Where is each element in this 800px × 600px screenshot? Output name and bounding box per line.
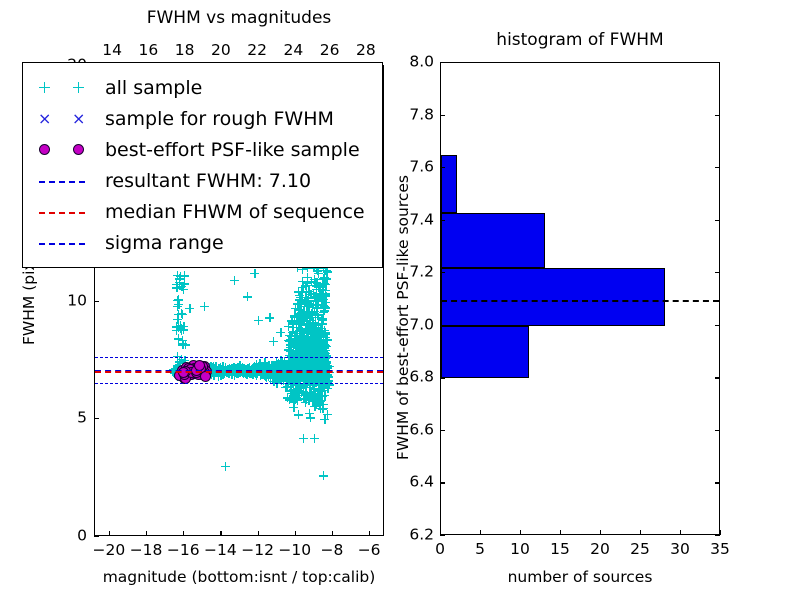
legend-item: sigma range bbox=[33, 227, 370, 258]
hist-y-tick-label: 7.6 bbox=[392, 159, 434, 175]
histogram-bar bbox=[441, 213, 545, 268]
x-tick-bottom bbox=[295, 531, 296, 536]
x-tick-label: −20 bbox=[93, 543, 126, 559]
x-marker-icon: × bbox=[38, 111, 51, 127]
hist-y-tick-right bbox=[715, 62, 720, 63]
legend-item: median FHWM of sequence bbox=[33, 196, 370, 227]
x-tick-bottom bbox=[369, 531, 370, 536]
reference-line-sigma-range-upper bbox=[95, 357, 383, 358]
right-yaxis-label: FWHM of best-effort PSF-like sources bbox=[394, 175, 412, 460]
hist-x-tick bbox=[640, 530, 641, 535]
right-xaxis-label: number of sources bbox=[508, 568, 653, 586]
x-tick-bottom bbox=[146, 531, 147, 536]
x-tick-label: −10 bbox=[278, 543, 311, 559]
blue-dashdot-line-icon bbox=[39, 243, 85, 245]
left-xaxis-label: magnitude (bottom:isnt / top:calib) bbox=[103, 568, 376, 586]
x-marker-icon: × bbox=[72, 111, 85, 127]
blue-dashed-line-icon bbox=[33, 171, 105, 191]
hist-x-tick-label: 5 bbox=[475, 542, 485, 558]
legend-box: all sample××sample for rough FWHMbest-ef… bbox=[22, 62, 383, 268]
hist-x-tick bbox=[600, 530, 601, 535]
x-tick-label: −12 bbox=[241, 543, 274, 559]
hist-y-tick-right bbox=[715, 167, 720, 168]
top-x-tick-label: 16 bbox=[139, 43, 159, 59]
left-yaxis-label: FWHM (pix) bbox=[20, 255, 38, 345]
circle-marker-icon bbox=[39, 144, 50, 155]
right-histogram-axes bbox=[440, 62, 720, 535]
legend-item-label: median FHWM of sequence bbox=[105, 201, 365, 223]
hist-y-tick-label: 6.2 bbox=[392, 527, 434, 543]
hist-y-tick-right bbox=[715, 377, 720, 378]
legend-item: best-effort PSF-like sample bbox=[33, 134, 370, 165]
y-tick-left bbox=[94, 301, 99, 302]
hist-y-tick bbox=[440, 325, 445, 326]
red-dashed-line-icon bbox=[33, 202, 105, 222]
top-x-tick-label: 26 bbox=[320, 43, 340, 59]
y-tick-left bbox=[94, 418, 99, 419]
x-tick-label: −18 bbox=[130, 543, 163, 559]
plus-marker-icon bbox=[39, 82, 50, 93]
hist-x-tick-label: 35 bbox=[710, 542, 730, 558]
hist-y-tick-right bbox=[715, 535, 720, 536]
legend-item: resultant FWHM: 7.10 bbox=[33, 165, 370, 196]
hist-y-tick-label: 7.8 bbox=[392, 107, 434, 123]
y-tick-label: 5 bbox=[54, 411, 87, 427]
top-x-tick-label: 24 bbox=[284, 43, 304, 59]
top-x-tick-label: 28 bbox=[356, 43, 376, 59]
x-tick-bottom bbox=[220, 531, 221, 536]
hist-y-tick bbox=[440, 482, 445, 483]
y-tick-label: 10 bbox=[54, 293, 87, 309]
blue-dashdot-line-icon bbox=[33, 233, 105, 253]
circle-marker-icon bbox=[33, 140, 105, 160]
plus-marker-icon bbox=[33, 78, 105, 98]
hist-y-tick bbox=[440, 535, 445, 536]
hist-y-tick bbox=[440, 115, 445, 116]
legend-item: ××sample for rough FWHM bbox=[33, 103, 370, 134]
hist-y-tick-label: 6.4 bbox=[392, 475, 434, 491]
red-dashed-line-icon bbox=[39, 212, 85, 214]
histogram-bar bbox=[441, 326, 529, 379]
hist-x-tick bbox=[680, 530, 681, 535]
hist-y-tick bbox=[440, 430, 445, 431]
histogram-bars-layer bbox=[441, 63, 719, 534]
hist-x-tick-label: 20 bbox=[590, 542, 610, 558]
x-tick-label: −8 bbox=[321, 543, 344, 559]
hist-y-tick bbox=[440, 272, 445, 273]
hist-x-tick-label: 10 bbox=[510, 542, 530, 558]
hist-x-tick-label: 0 bbox=[435, 542, 445, 558]
y-tick-label: 0 bbox=[54, 528, 87, 544]
top-x-tick-label: 22 bbox=[247, 43, 267, 59]
x-tick-label: −16 bbox=[167, 543, 200, 559]
plus-marker-icon bbox=[73, 82, 84, 93]
reference-line-sigma-range-lower bbox=[95, 383, 383, 384]
circle-marker-icon bbox=[73, 144, 84, 155]
x-marker-icon: ×× bbox=[33, 109, 105, 129]
hist-x-tick bbox=[520, 530, 521, 535]
histogram-bar bbox=[441, 155, 457, 213]
top-x-tick-label: 14 bbox=[102, 43, 122, 59]
x-tick-label: −14 bbox=[204, 543, 237, 559]
top-x-tick-label: 20 bbox=[211, 43, 231, 59]
hist-x-tick-label: 25 bbox=[630, 542, 650, 558]
legend-item-label: sigma range bbox=[105, 232, 224, 254]
x-tick-bottom bbox=[332, 531, 333, 536]
hist-y-tick-right bbox=[715, 272, 720, 273]
hist-x-tick-label: 15 bbox=[550, 542, 570, 558]
top-x-tick-label: 18 bbox=[175, 43, 195, 59]
hist-y-tick bbox=[440, 220, 445, 221]
legend-item: all sample bbox=[33, 72, 370, 103]
x-tick-bottom bbox=[109, 531, 110, 536]
hist-x-tick-label: 30 bbox=[670, 542, 690, 558]
hist-y-tick-right bbox=[715, 482, 720, 483]
histogram-bar bbox=[441, 268, 665, 326]
x-tick-label: −6 bbox=[358, 543, 381, 559]
hist-y-tick-right bbox=[715, 115, 720, 116]
legend-item-label: best-effort PSF-like sample bbox=[105, 139, 360, 161]
x-tick-bottom bbox=[183, 531, 184, 536]
hist-y-tick bbox=[440, 62, 445, 63]
hist-y-tick bbox=[440, 167, 445, 168]
figure-canvas: FWHM vs magnitudes −20−18−16−14−12−10−8−… bbox=[0, 0, 800, 600]
left-plot-title: FWHM vs magnitudes bbox=[147, 8, 332, 28]
hist-y-tick bbox=[440, 377, 445, 378]
x-tick-bottom bbox=[258, 531, 259, 536]
legend-item-label: all sample bbox=[105, 77, 202, 99]
hist-y-tick-right bbox=[715, 325, 720, 326]
hist-y-tick-right bbox=[715, 220, 720, 221]
blue-dashed-line-icon bbox=[39, 181, 85, 183]
hist-y-tick-label: 8.0 bbox=[392, 54, 434, 70]
hist-x-tick bbox=[480, 530, 481, 535]
reference-line-median-fhwm-of-sequence bbox=[95, 371, 383, 373]
histogram-resultant-fwhm-line bbox=[441, 300, 719, 302]
right-plot-title: histogram of FWHM bbox=[496, 30, 663, 50]
hist-x-tick bbox=[560, 530, 561, 535]
y-tick-left bbox=[94, 536, 99, 537]
hist-x-tick bbox=[720, 530, 721, 535]
legend-item-label: sample for rough FWHM bbox=[105, 108, 334, 130]
hist-y-tick-right bbox=[715, 430, 720, 431]
legend-item-label: resultant FWHM: 7.10 bbox=[105, 170, 311, 192]
